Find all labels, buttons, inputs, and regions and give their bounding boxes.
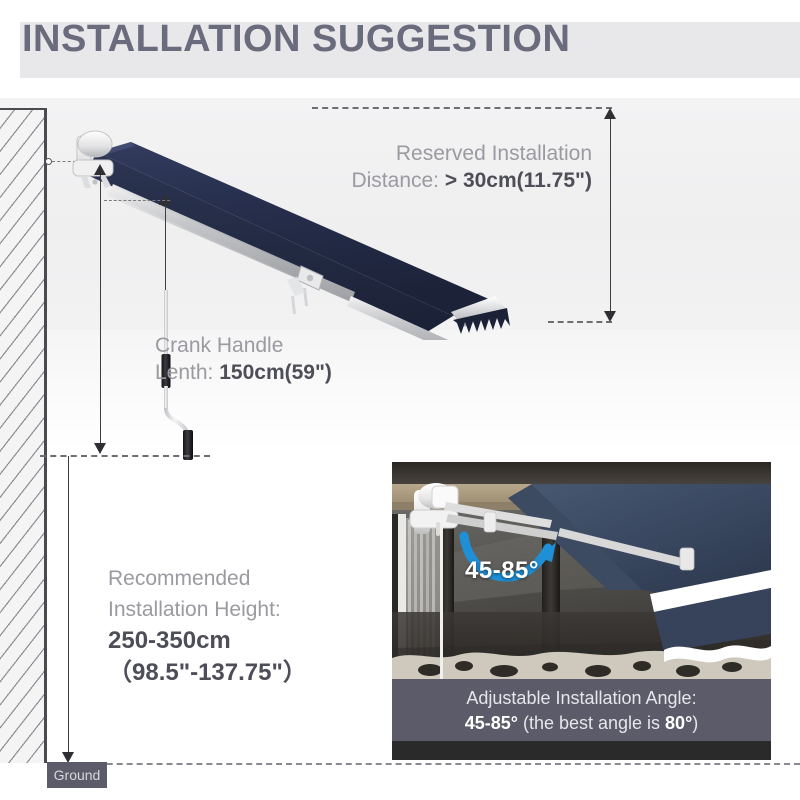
callout-installation-height: Recommended Installation Height: 250-350… (108, 563, 307, 689)
crank-bottom-dashed-line (40, 455, 210, 457)
mount-height-arrow-up-a (94, 164, 106, 175)
installation-height-value-imperial: （98.5"-137.75"） (108, 659, 307, 686)
backdrop-fade (0, 330, 800, 450)
reserved-distance-arrow-up (604, 108, 616, 119)
callout-reserved-distance: Reserved Installation Distance: > 30cm(1… (312, 140, 592, 194)
mount-height-dimension-line-b (165, 200, 166, 292)
inset-caption-value: 45-85° (465, 713, 518, 733)
arm-base-dashed-line (104, 200, 170, 201)
reserved-distance-arrow-down (604, 311, 616, 322)
crank-handle-label: Crank Handle (155, 334, 283, 357)
reserved-distance-label: Reserved Installation (396, 142, 592, 165)
reserved-distance-label2: Distance: (351, 169, 444, 192)
mount-height-dimension-line-a (100, 170, 101, 448)
mount-height-arrow-down-a (94, 443, 106, 454)
inset-caption: Adjustable Installation Angle: 45-85° (t… (392, 679, 771, 741)
page-title: INSTALLATION SUGGESTION (22, 18, 570, 61)
inset-caption-end: ) (692, 713, 698, 733)
ground-dashed-line (47, 763, 800, 765)
top-reference-dashed-line (312, 107, 612, 109)
reserved-distance-value: > 30cm(11.75") (445, 169, 592, 192)
installation-height-value: 250-350cm (108, 627, 231, 654)
crank-handle-label2: Lenth: (155, 361, 219, 384)
installation-height-dimension-line (68, 456, 69, 756)
installation-height-label2: Installation Height: (108, 598, 281, 621)
mount-node-dot (45, 158, 52, 165)
wall-hatch (0, 108, 47, 763)
reserved-distance-dimension-line (610, 110, 611, 320)
inset-caption-mid: (the best angle is (518, 713, 665, 733)
inset-caption-best: 80° (665, 713, 692, 733)
ground-label: Ground (47, 762, 107, 788)
installation-height-label: Recommended (108, 567, 250, 590)
installation-suggestion-infographic: INSTALLATION SUGGESTION (0, 0, 800, 800)
crank-handle-value: 150cm(59") (219, 361, 332, 384)
callout-crank-handle: Crank Handle Lenth: 150cm(59") (155, 332, 332, 386)
inset-caption-line1: Adjustable Installation Angle: (466, 688, 696, 708)
inset-angle-badge: 45-85° (465, 557, 539, 585)
